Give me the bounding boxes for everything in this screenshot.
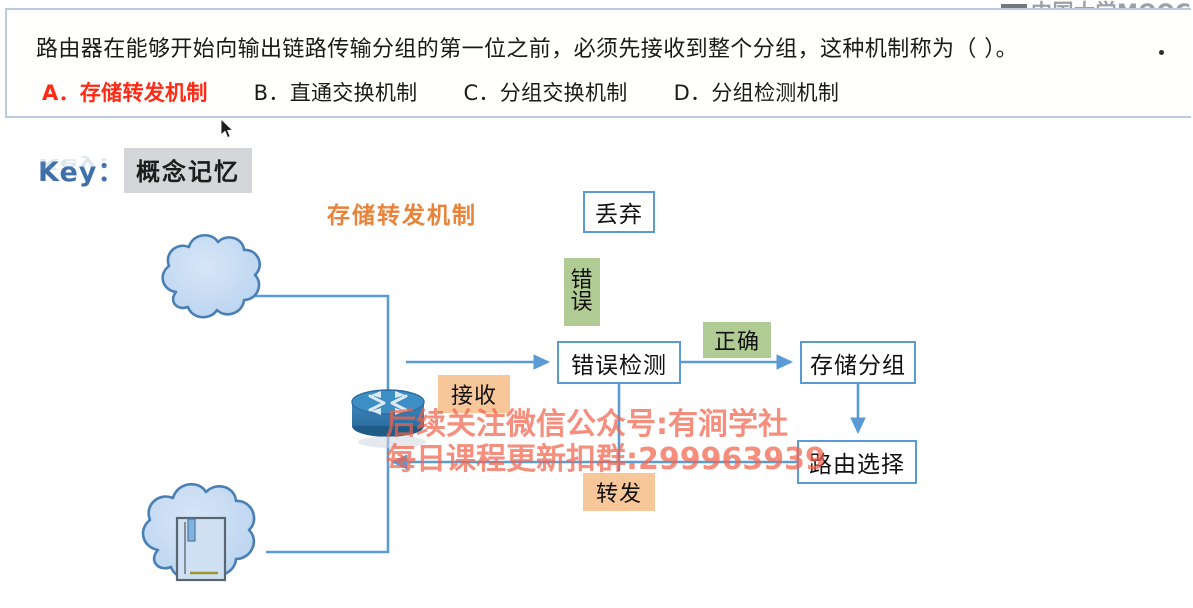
question-stem: 路由器在能够开始向输出链路传输分组的第一位之前，必须先接收到整个分组，这种机制称… <box>36 31 1018 63</box>
option-a-text: 存储转发机制 <box>80 81 208 105</box>
option-d-text: 分组检测机制 <box>711 81 839 105</box>
network-cloud-icon <box>163 235 260 317</box>
node-discard[interactable]: 丢弃 <box>583 191 655 233</box>
question-options: A．存储转发机制 B．直通交换机制 C．分组交换机制 D．分组检测机制 <box>42 77 885 107</box>
panel-dot-marker <box>1159 50 1164 55</box>
option-d[interactable]: D．分组检测机制 <box>674 77 840 107</box>
node-error-detection[interactable]: 错误检测 <box>557 341 681 384</box>
edge-label-error-c2: 误 <box>570 292 593 314</box>
option-c[interactable]: C．分组交换机制 <box>464 77 628 107</box>
router-icon <box>352 390 426 448</box>
slide-canvas: 中国大学MOOC 路由器在能够开始向输出链路传输分组的第一位之前，必须先接收到整… <box>0 0 1193 608</box>
option-a[interactable]: A．存储转发机制 <box>42 77 208 107</box>
edge-label-error-c1: 错 <box>570 270 593 292</box>
edge-label-correct: 正确 <box>703 322 771 358</box>
option-b-letter: B． <box>254 81 290 105</box>
node-store-packet[interactable]: 存储分组 <box>800 341 916 384</box>
edge-label-forward: 转发 <box>583 473 655 511</box>
option-b-text: 直通交换机制 <box>290 81 418 105</box>
network-cloud-document-icon <box>143 484 254 580</box>
option-a-letter: A． <box>42 81 80 105</box>
option-c-letter: C． <box>464 81 500 105</box>
option-b[interactable]: B．直通交换机制 <box>254 77 418 107</box>
edge-label-error: 错 误 <box>564 258 600 326</box>
node-route-selection[interactable]: 路由选择 <box>797 440 917 484</box>
option-c-text: 分组交换机制 <box>500 81 628 105</box>
option-d-letter: D． <box>674 81 712 105</box>
edge-label-receive: 接收 <box>438 375 510 413</box>
